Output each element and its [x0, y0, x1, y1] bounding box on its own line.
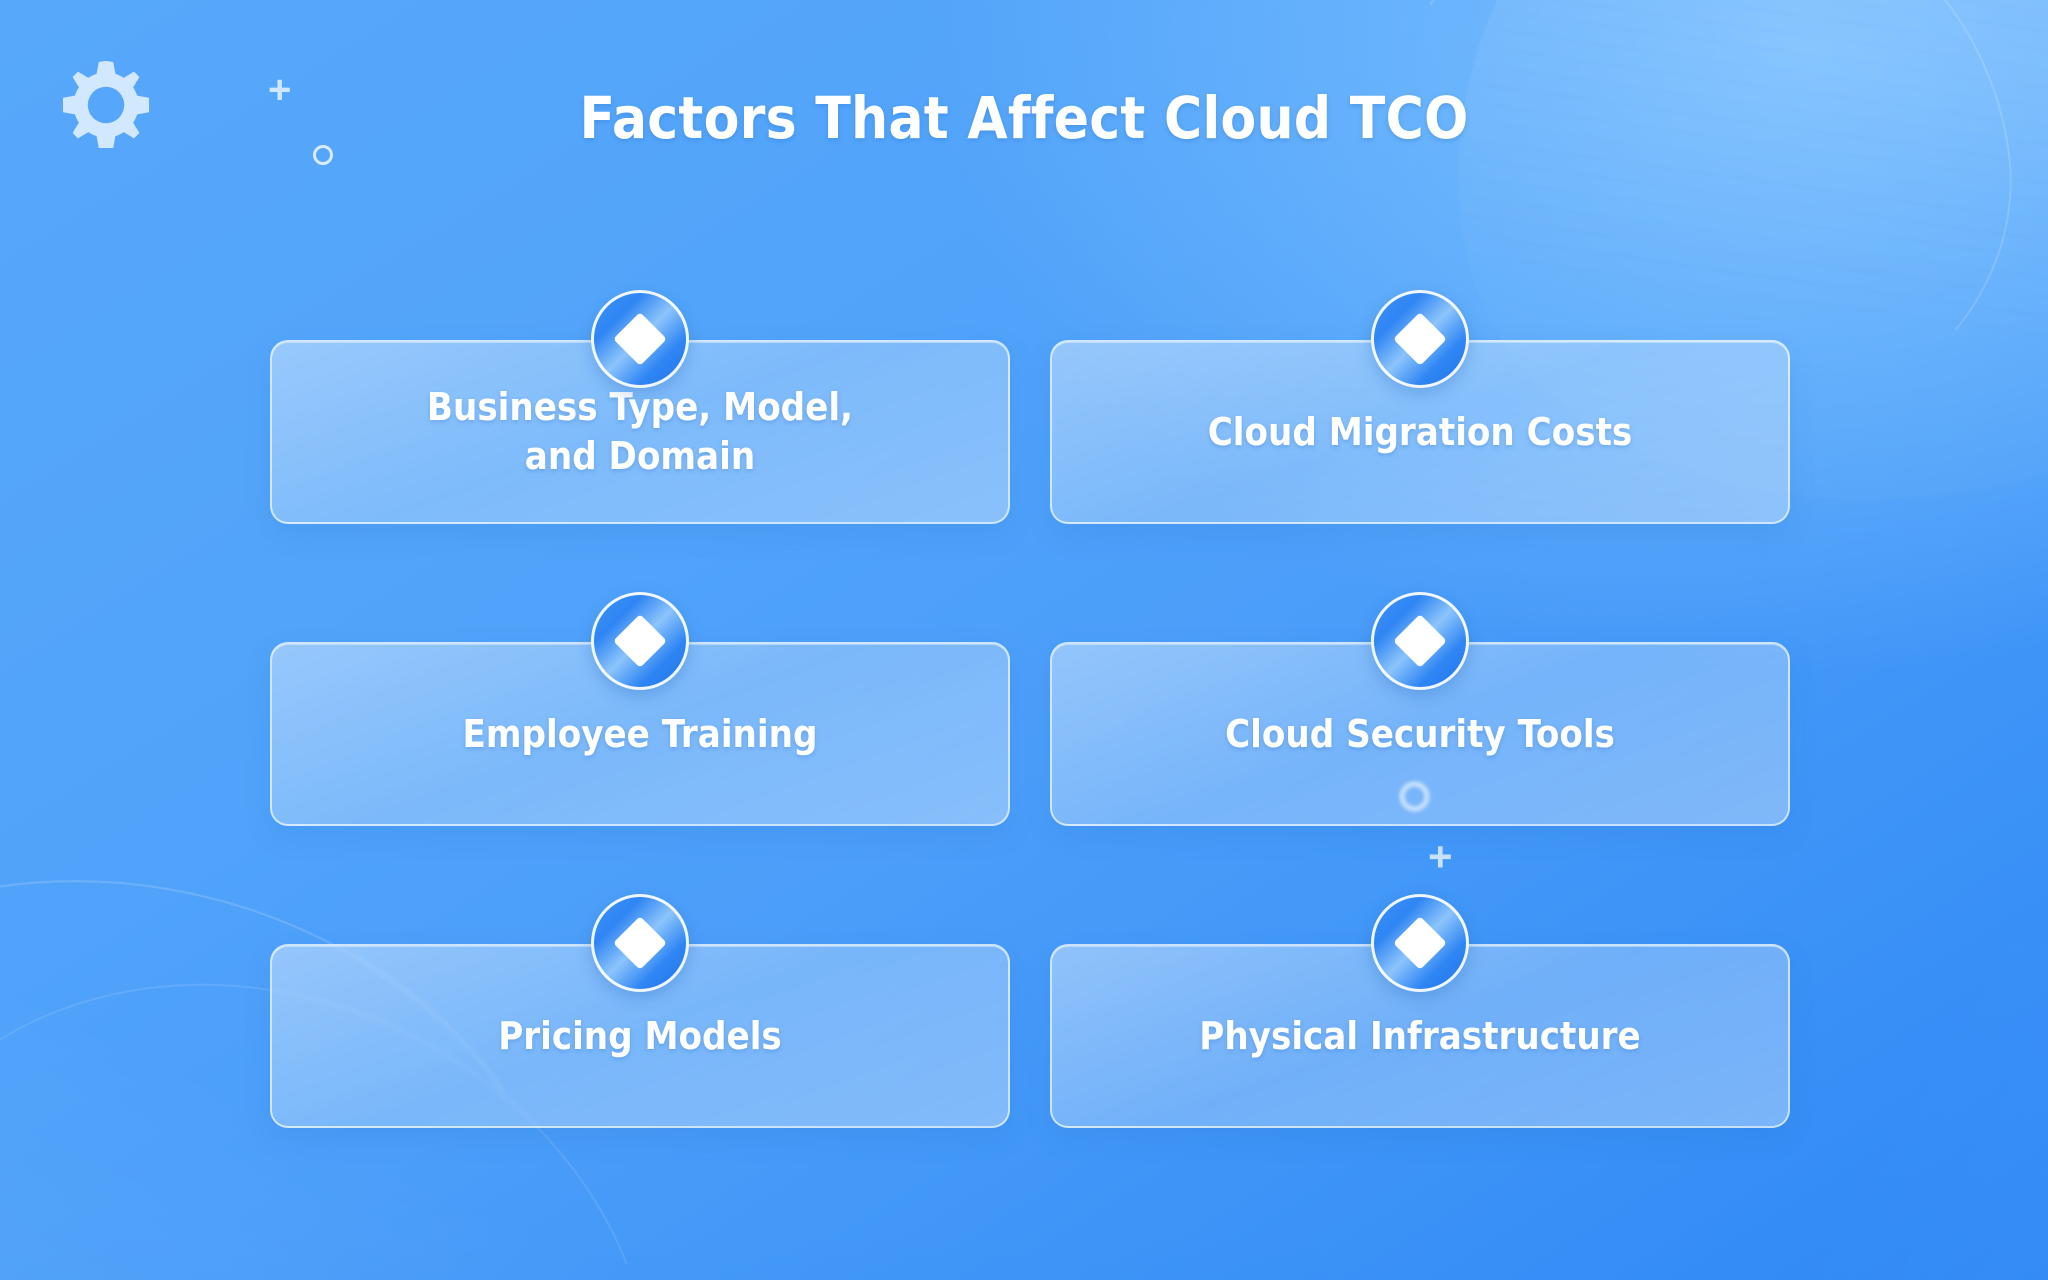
diamond-icon — [591, 290, 689, 388]
factor-card-pricing-models[interactable]: Pricing Models — [270, 944, 1010, 1128]
diamond-icon — [1371, 894, 1469, 992]
diamond-icon — [1371, 290, 1469, 388]
factor-card-label: Business Type, Model,and Domain — [357, 383, 923, 480]
factor-card-label: Employee Training — [393, 710, 888, 759]
factor-card-label: Physical Infrastructure — [1129, 1012, 1710, 1061]
diamond-icon — [1371, 592, 1469, 690]
page-title: Factors That Affect Cloud TCO — [0, 84, 2048, 152]
factor-card-grid: Business Type, Model,and Domain Cloud Mi… — [270, 340, 1790, 1128]
factor-card-cloud-security-tools[interactable]: Cloud Security Tools — [1050, 642, 1790, 826]
factor-card-label: Cloud Migration Costs — [1138, 408, 1703, 457]
factor-card-label: Cloud Security Tools — [1155, 710, 1685, 759]
diamond-icon — [591, 894, 689, 992]
factor-card-cloud-migration-costs[interactable]: Cloud Migration Costs — [1050, 340, 1790, 524]
factor-card-physical-infrastructure[interactable]: Physical Infrastructure — [1050, 944, 1790, 1128]
factor-card-label: Pricing Models — [428, 1012, 852, 1061]
factor-card-employee-training[interactable]: Employee Training — [270, 642, 1010, 826]
diamond-icon — [591, 592, 689, 690]
infographic-canvas: + + Factors That Affect Cloud TCO Busine… — [0, 0, 2048, 1280]
factor-card-business-type[interactable]: Business Type, Model,and Domain — [270, 340, 1010, 524]
